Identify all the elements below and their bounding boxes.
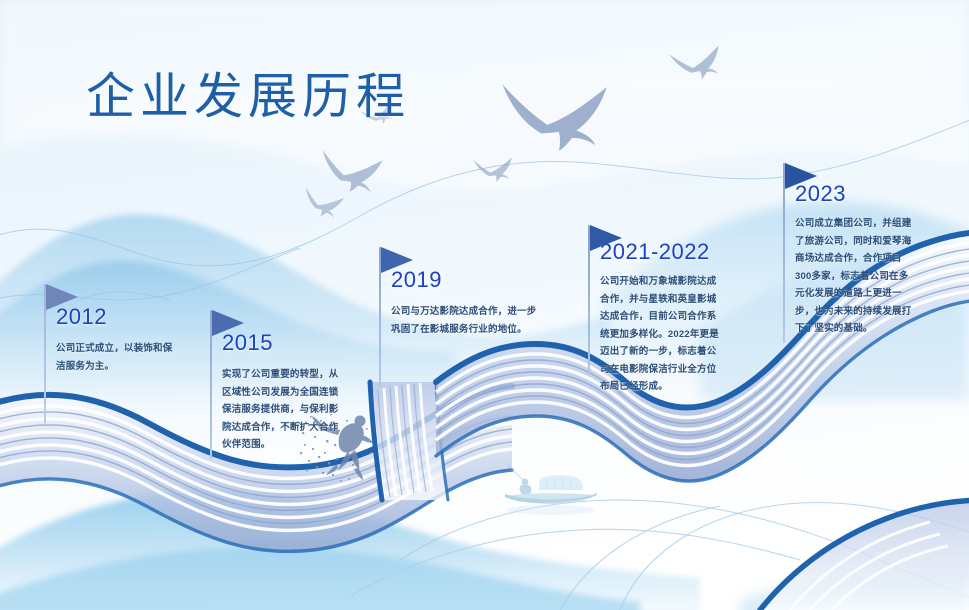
milestone-description: 公司与万达影院达成合作，进一步巩固了在影城服务行业的地位。 xyxy=(391,303,539,338)
milestone-2019[interactable]: 2019 公司与万达影院达成合作，进一步巩固了在影城服务行业的地位。 xyxy=(379,247,569,407)
milestone-2021-2022[interactable]: 2021-2022 公司开始和万象城影院达成合作，并与星轶和英皇影城达成合作，目… xyxy=(588,225,788,405)
page-title: 企业发展历程 xyxy=(86,57,410,128)
milestone-description: 公司开始和万象城影院达成合作，并与星轶和英皇影城达成合作，目前公司合作系统更加多… xyxy=(600,273,726,396)
milestone-year: 2023 xyxy=(795,181,846,207)
milestone-year: 2015 xyxy=(222,330,273,356)
milestone-description: 公司正式成立，以装饰和保洁服务为主。 xyxy=(56,340,174,375)
milestone-2015[interactable]: 2015 实现了公司重要的转型，从区域性公司发展为全国连锁保洁服务提供商，与保利… xyxy=(210,310,400,490)
milestone-year: 2012 xyxy=(56,304,107,330)
milestone-description: 实现了公司重要的转型，从区域性公司发展为全国连锁保洁服务提供商，与保利影院达成合… xyxy=(222,366,342,454)
milestone-year: 2021-2022 xyxy=(600,239,710,265)
milestone-2023[interactable]: 2023 公司成立集团公司，并组建了旅游公司，同时和爱琴海商场达成合作，合作项目… xyxy=(783,163,969,363)
milestone-year: 2019 xyxy=(391,267,442,293)
milestone-2012[interactable]: 2012 公司正式成立，以装饰和保洁服务为主。 xyxy=(44,284,224,454)
milestone-description: 公司成立集团公司，并组建了旅游公司，同时和爱琴海商场达成合作，合作项目300多家… xyxy=(795,215,917,338)
timeline-poster: 企业发展历程 2012 公司正式成立，以装饰和保洁服务为主。 2015 实现了公… xyxy=(0,0,969,610)
